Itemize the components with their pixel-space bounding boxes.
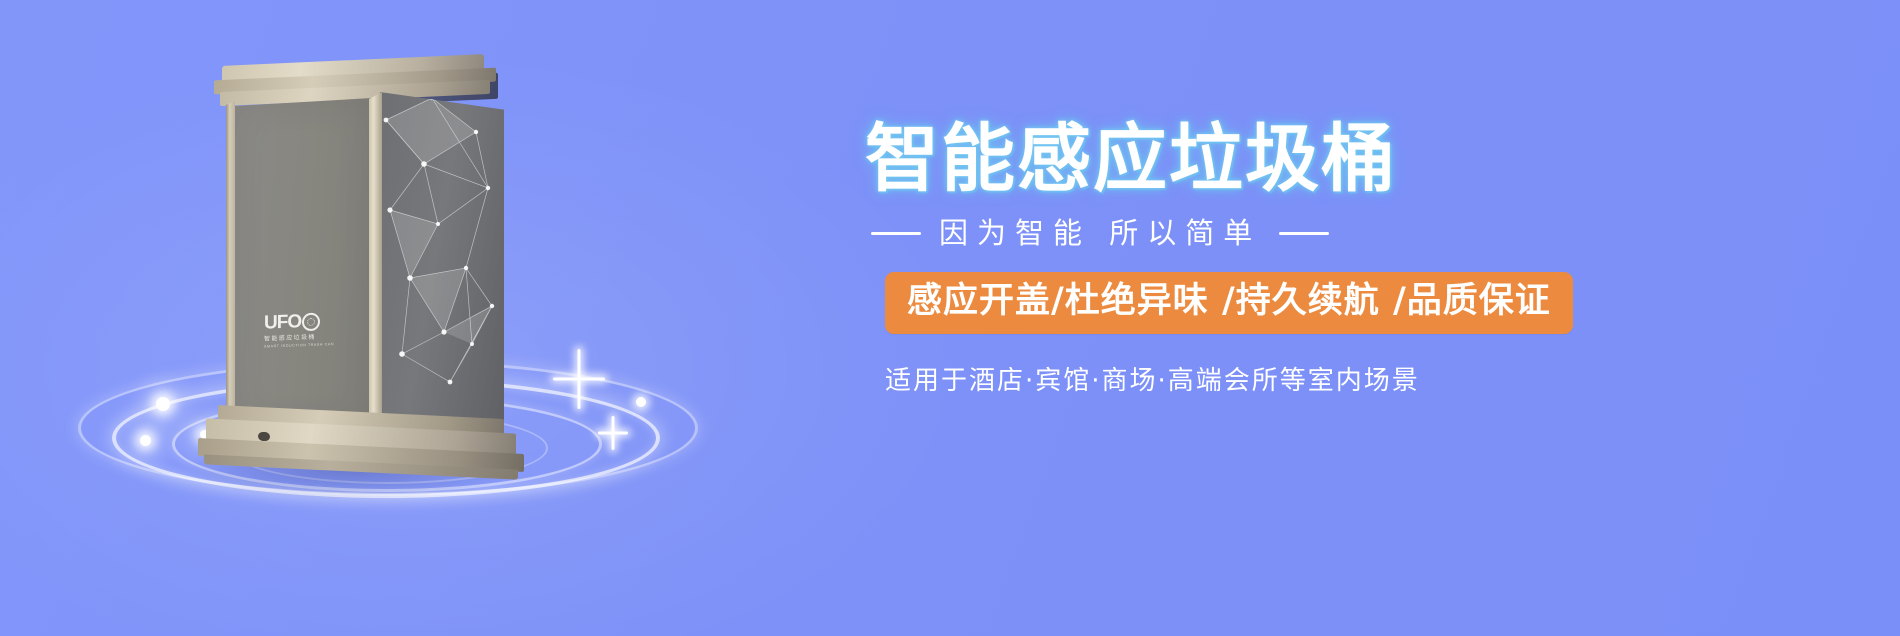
bin-base-plinth: [196, 412, 526, 492]
sparkle-star-right-lower: [612, 432, 614, 434]
brand-logo-ring-icon: [302, 312, 320, 331]
brand-logo-wordmark: UFO: [264, 312, 301, 332]
promo-banner: UFO 智能感应垃圾桶 SMART INDUCTION TRASH CAN 智能…: [0, 0, 1900, 636]
poly-network-graphic: [380, 92, 504, 444]
tagline-badge: 感应开盖/杜绝异味 /持久续航 /品质保证: [885, 272, 1573, 334]
subline-text: 因为智能 所以简单: [939, 219, 1261, 248]
subline-rule-left: [871, 232, 921, 235]
scene-note-text: 适用于酒店·宾馆·商场·高端会所等室内场景: [885, 368, 1765, 394]
sparkle-glow-left-upper: [156, 397, 170, 411]
bin-edge-trim-left: [226, 98, 235, 430]
bin-panel-right: [380, 92, 504, 444]
product-brand-logo: UFO 智能感应垃圾桶 SMART INDUCTION TRASH CAN: [264, 310, 354, 359]
bin-base-sensor-slot: [258, 432, 270, 442]
sparkle-glow-right: [636, 397, 646, 407]
copy-block: 智能感应垃圾桶 因为智能 所以简单 感应开盖/杜绝异味 /持久续航 /品质保证 …: [885, 118, 1765, 394]
product-image-trash-bin: UFO 智能感应垃圾桶 SMART INDUCTION TRASH CAN: [230, 60, 500, 460]
subline-rule-right: [1279, 232, 1329, 235]
brand-logo-en-text: SMART INDUCTION TRASH CAN: [264, 342, 354, 350]
sparkle-glow-left-lower: [140, 435, 151, 446]
bin-panel-left: [230, 98, 372, 428]
subline-row: 因为智能 所以简单: [871, 219, 1765, 248]
tagline-text: 感应开盖/杜绝异味 /持久续航 /品质保证: [907, 281, 1551, 321]
brand-logo-row: UFO: [264, 310, 354, 332]
bin-edge-trim-center: [369, 92, 382, 440]
product-stage: UFO 智能感应垃圾桶 SMART INDUCTION TRASH CAN: [60, 20, 760, 580]
sparkle-star-right-upper: [578, 378, 580, 380]
headline-title: 智能感应垃圾桶: [865, 118, 1765, 201]
